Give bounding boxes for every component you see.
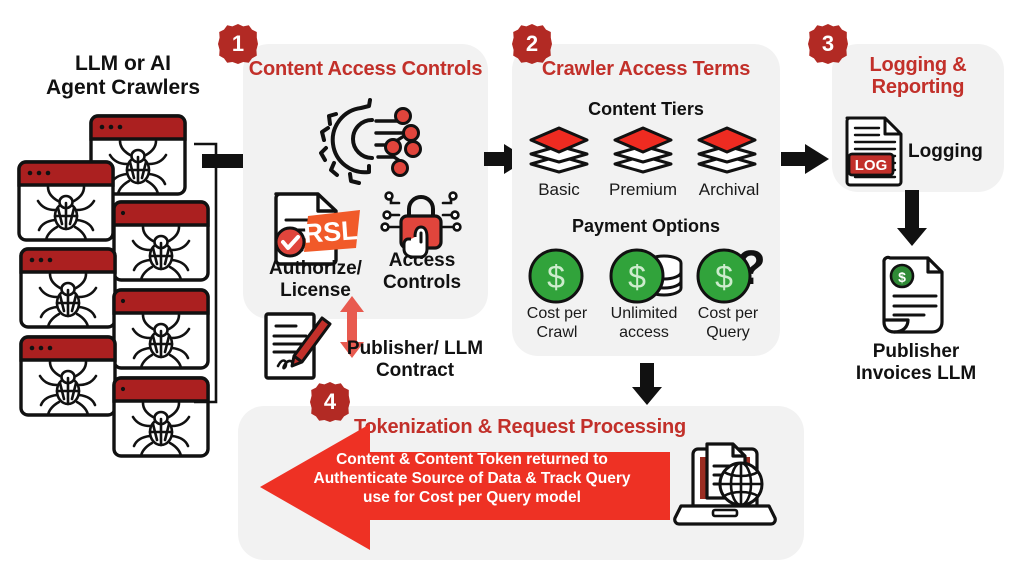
arrow-text-line1: Content & Content Token returned to — [285, 451, 659, 470]
left-group-heading-line1: LLM or AI — [28, 52, 218, 76]
arrow-panel3-to-invoice — [895, 190, 929, 246]
arrow-text-line3: use for Cost per Query model — [285, 489, 659, 508]
log-document-icon: LOG — [843, 114, 905, 186]
svg-text:$: $ — [715, 259, 733, 295]
crawler-window-6 — [19, 335, 117, 417]
panel3-title-line1: Logging & — [832, 54, 1004, 76]
dollar-coin-icon: $ — [527, 247, 585, 305]
cost-per-crawl-line2: Crawl — [514, 324, 600, 343]
arrow-text-line2: Authenticate Source of Data & Track Quer… — [285, 470, 659, 489]
payment-options-heading: Payment Options — [512, 216, 780, 237]
tier-label-archival: Archival — [681, 180, 777, 200]
svg-text:$: $ — [628, 259, 646, 295]
panel3-title-line2: Reporting — [832, 76, 1004, 98]
dollar-coin-database-icon: $ — [608, 247, 686, 305]
invoice-label-line1: Publisher — [841, 341, 991, 363]
publisher-invoices-llm-label: Publisher Invoices LLM — [841, 341, 991, 384]
payment-label-unlimited-access: Unlimited access — [598, 305, 690, 342]
gear-circuit-icon — [320, 96, 424, 182]
diagram-canvas: LLM or AI Agent Crawlers — [0, 0, 1024, 576]
panel3-title: Logging & Reporting — [832, 54, 1004, 99]
layers-stack-icon-premium — [612, 126, 674, 172]
tokenization-arrow-text: Content & Content Token returned to Auth… — [285, 451, 659, 508]
step-badge-2: 2 — [512, 24, 552, 64]
rsl-license-document-icon: RSL — [268, 190, 364, 268]
access-controls-line1: Access — [360, 250, 484, 272]
access-controls-label: Access Controls — [360, 250, 484, 293]
panel2-title: Crawler Access Terms — [512, 58, 780, 80]
arrow-panel2-to-panel3 — [781, 142, 829, 176]
left-group-heading: LLM or AI Agent Crawlers — [28, 52, 218, 100]
invoice-dollar-document-icon: $ — [880, 254, 950, 336]
cost-per-query-line1: Cost per — [685, 305, 771, 324]
cost-per-query-line2: Query — [685, 324, 771, 343]
laptop-globe-document-icon — [673, 432, 777, 536]
unlimited-access-line1: Unlimited — [598, 305, 690, 324]
payment-label-cost-per-query: Cost per Query — [685, 305, 771, 342]
contract-line1: Publisher/ LLM — [330, 338, 500, 360]
crawler-window-2 — [17, 160, 115, 242]
access-controls-line2: Controls — [360, 272, 484, 294]
step-badge-3: 3 — [808, 24, 848, 64]
contract-line2: Contract — [330, 360, 500, 382]
svg-text:$: $ — [898, 269, 906, 285]
layers-stack-icon-basic — [528, 126, 590, 172]
arrow-panel2-to-panel4 — [630, 363, 664, 405]
step-badge-4: 4 — [310, 382, 350, 422]
left-group-heading-line2: Agent Crawlers — [28, 76, 218, 100]
crawler-group-bracket — [192, 142, 222, 404]
unlimited-access-line2: access — [598, 324, 690, 343]
tier-label-premium: Premium — [595, 180, 691, 200]
publisher-llm-contract-label: Publisher/ LLM Contract — [330, 338, 500, 381]
signed-contract-pen-icon — [260, 310, 334, 382]
payment-label-cost-per-crawl: Cost per Crawl — [514, 305, 600, 342]
step-badge-1: 1 — [218, 24, 258, 64]
layers-stack-icon-archival — [696, 126, 758, 172]
svg-text:LOG: LOG — [855, 157, 888, 174]
panel1-title: Content Access Controls — [243, 58, 488, 80]
invoice-label-line2: Invoices LLM — [841, 363, 991, 385]
tier-label-basic: Basic — [519, 180, 599, 200]
crawler-window-4 — [19, 247, 117, 329]
svg-text:$: $ — [547, 259, 565, 295]
svg-text:RSL: RSL — [303, 215, 359, 249]
dollar-coin-question-icon: ? $ — [697, 240, 769, 306]
cost-per-crawl-line1: Cost per — [514, 305, 600, 324]
content-tiers-heading: Content Tiers — [512, 99, 780, 120]
logging-label: Logging — [908, 141, 1000, 163]
